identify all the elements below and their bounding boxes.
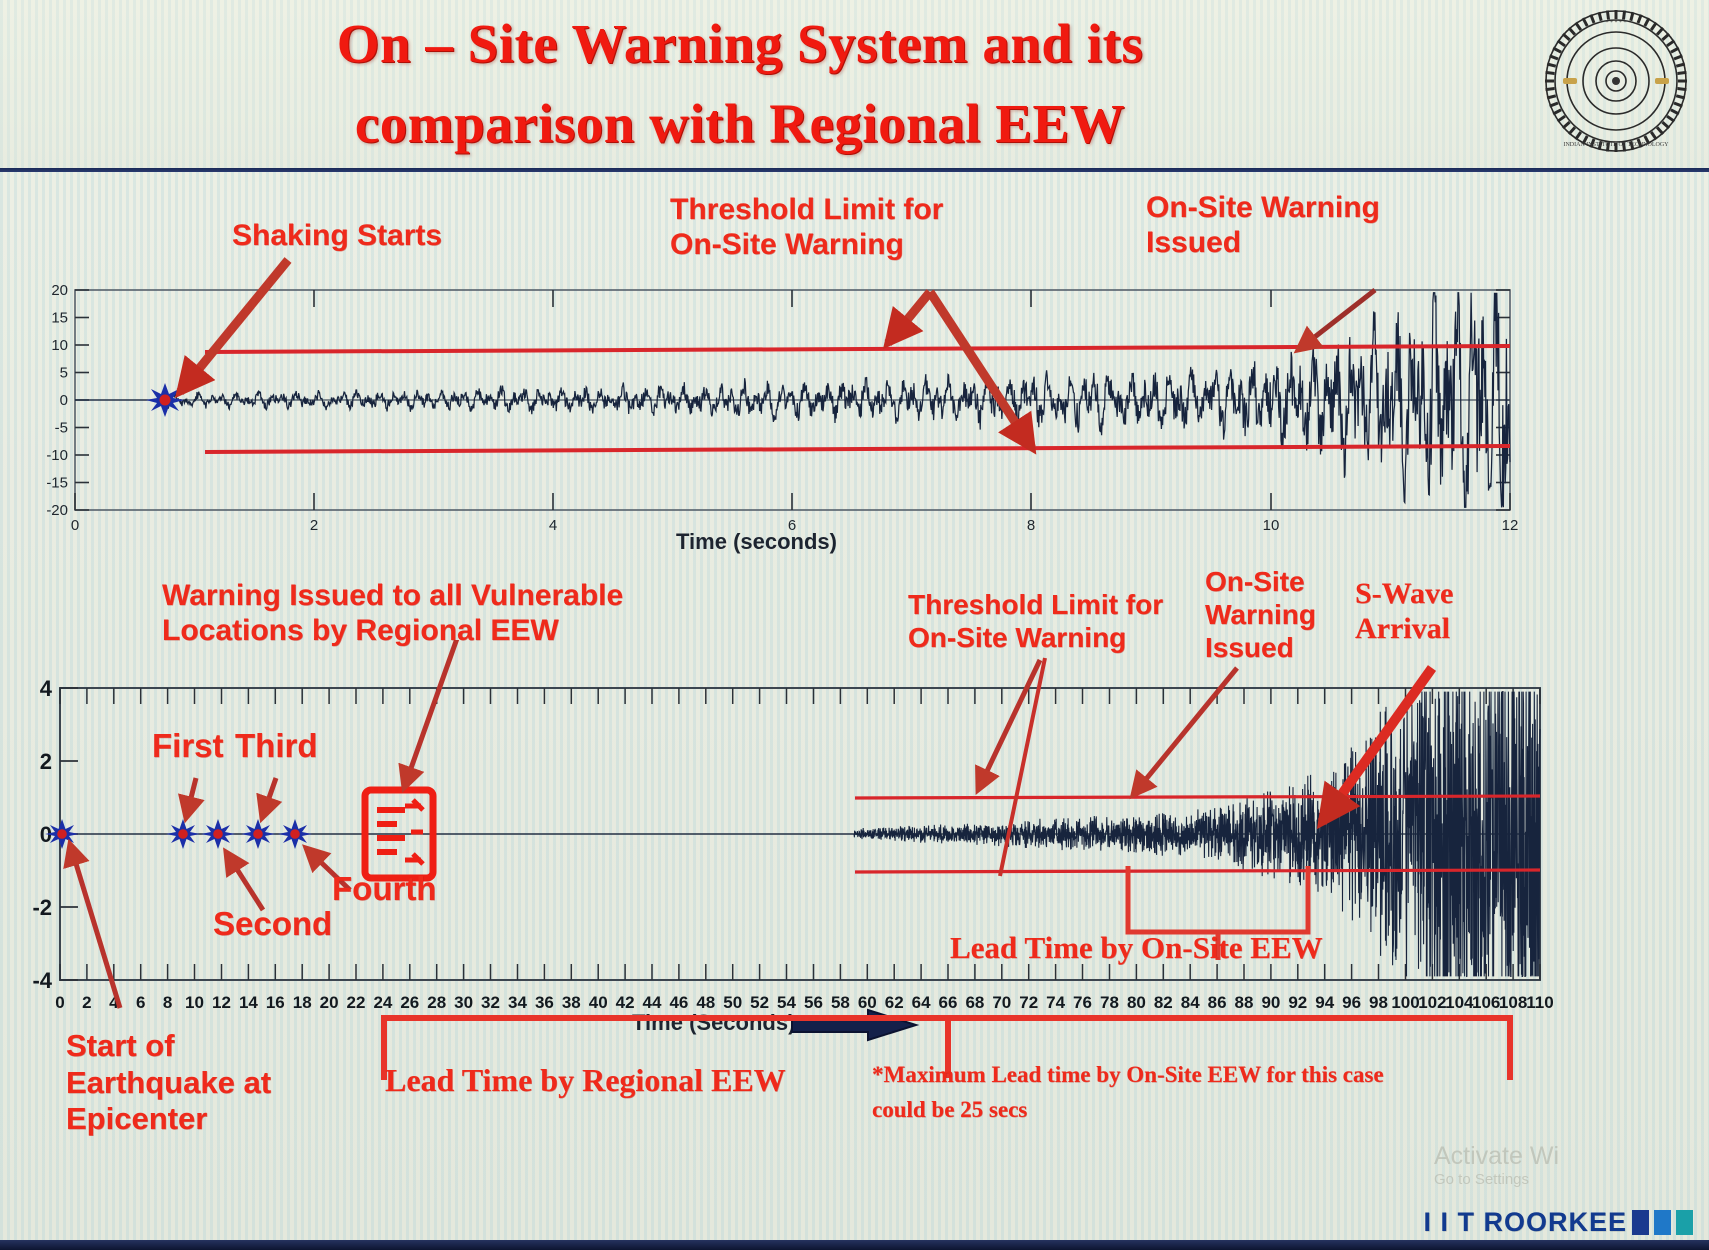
chart1-arrow-shaking-starts [180, 260, 288, 392]
brand-text: I I T ROORKEE [1423, 1207, 1627, 1238]
iit-roorkee-seal-icon: * * * * * INDIAN INSTITUTE OF TECHNOLOGY [1541, 6, 1691, 156]
annotation-shaking-starts: Shaking Starts [232, 218, 442, 253]
chart2-arrow-second [226, 852, 263, 910]
brand-swatch-1 [1632, 1210, 1649, 1235]
svg-text:-20: -20 [46, 502, 68, 519]
title-line-2: comparison with Regional EEW [150, 84, 1330, 164]
svg-text:8: 8 [1027, 517, 1035, 534]
windows-activation-watermark: Activate Wi Go to Settings [1434, 1142, 1559, 1188]
annotation-lead-time-regional: Lead Time by Regional EEW [385, 1062, 786, 1100]
slide-header: On – Site Warning System and its compari… [0, 0, 1709, 172]
svg-text:0: 0 [60, 392, 68, 409]
svg-text:2: 2 [310, 517, 318, 534]
header-divider [0, 168, 1709, 172]
svg-text:-15: -15 [46, 475, 68, 492]
svg-text:4: 4 [549, 517, 557, 534]
chart2-xtick-label: 0 [55, 993, 64, 1012]
chart2-xtick-label: 110 [1526, 993, 1553, 1012]
chart1-arrow-threshold-lower [930, 292, 1032, 448]
annotation-warning-issued-2: On-Site Warning Issued [1205, 565, 1316, 664]
bottom-bar [0, 1240, 1709, 1250]
footnote-max-lead-time: *Maximum Lead time by On-Site EEW for th… [872, 1058, 1384, 1127]
annotation-threshold-limit-2: Threshold Limit for On-Site Warning [908, 588, 1163, 654]
title-line-1: On – Site Warning System and its [150, 4, 1330, 84]
chart2-arrow-start-of-earthquake [70, 844, 120, 1008]
annotation-second: Second [213, 905, 332, 944]
chart2-xtick-label: 8 [163, 993, 172, 1012]
brand-footer: I I T ROORKEE [1423, 1207, 1693, 1238]
svg-text:20: 20 [51, 282, 68, 299]
svg-text:15: 15 [51, 310, 68, 327]
annotation-threshold-limit-1: Threshold Limit for On-Site Warning [670, 192, 943, 263]
chart2-xtick-label: 2 [82, 993, 91, 1012]
svg-text:2: 2 [40, 749, 52, 774]
brand-swatch-2 [1654, 1210, 1671, 1235]
chart2-xtick-label: 12 [212, 993, 231, 1012]
chart2-xtick-label: 18 [293, 993, 312, 1012]
annotation-warning-issued-1: On-Site Warning Issued [1146, 190, 1380, 261]
annotation-regional-warning: Warning Issued to all Vulnerable Locatio… [162, 578, 623, 649]
page-title: On – Site Warning System and its compari… [150, 4, 1330, 164]
chart-regional-vs-onsite: 4 2 0 -2 -4 0246810121416182022242628303… [0, 640, 1709, 1040]
svg-text:INDIAN INSTITUTE OF TECHNOLOGY: INDIAN INSTITUTE OF TECHNOLOGY [1563, 142, 1669, 148]
svg-text:0: 0 [71, 517, 79, 534]
svg-text:-4: -4 [32, 968, 52, 993]
svg-text:10: 10 [1263, 517, 1280, 534]
svg-text:* * * * *: * * * * * [1606, 20, 1627, 26]
chart2-xtick-label: 22 [347, 993, 366, 1012]
annotation-first: First [152, 727, 224, 766]
chart1-arrow-threshold [888, 292, 930, 343]
annotation-lead-time-onsite: Lead Time by On-Site EEW [950, 930, 1323, 967]
chart2-xtick-label: 16 [266, 993, 285, 1012]
chart2-xtick-label: 14 [239, 993, 258, 1012]
chart1-xaxis-title: Time (seconds) [676, 529, 837, 555]
chart2-arrow-first [186, 778, 196, 818]
slide-root: On – Site Warning System and its compari… [0, 0, 1709, 1250]
svg-text:-5: -5 [55, 420, 68, 437]
chart1-arrow-warning-issued [1298, 290, 1375, 350]
annotation-third: Third [235, 727, 317, 766]
chart2-xtick-label: 20 [320, 993, 339, 1012]
annotation-s-wave-arrival: S-Wave Arrival [1355, 576, 1453, 647]
svg-text:4: 4 [40, 676, 53, 701]
brand-swatch-3 [1676, 1210, 1693, 1235]
chart2-arrow-regional-warning [404, 640, 460, 788]
svg-text:5: 5 [60, 365, 68, 382]
svg-text:-10: -10 [46, 447, 68, 464]
svg-text:-2: -2 [32, 895, 52, 920]
svg-text:10: 10 [51, 337, 68, 354]
annotation-fourth: Fourth [332, 870, 436, 909]
chart2-xtick-label: 6 [136, 993, 145, 1012]
watermark-line-1: Activate Wi [1434, 1142, 1559, 1170]
chart1-ytick-labels: 20 15 10 5 0 -5 -10 -15 -20 [46, 282, 68, 519]
watermark-line-2: Go to Settings [1434, 1171, 1559, 1188]
annotation-start-of-earthquake: Start of Earthquake at Epicenter [66, 1028, 271, 1138]
chart2-arrow-third [262, 778, 276, 818]
svg-text:12: 12 [1502, 517, 1519, 534]
chart2-xtick-label: 10 [185, 993, 204, 1012]
